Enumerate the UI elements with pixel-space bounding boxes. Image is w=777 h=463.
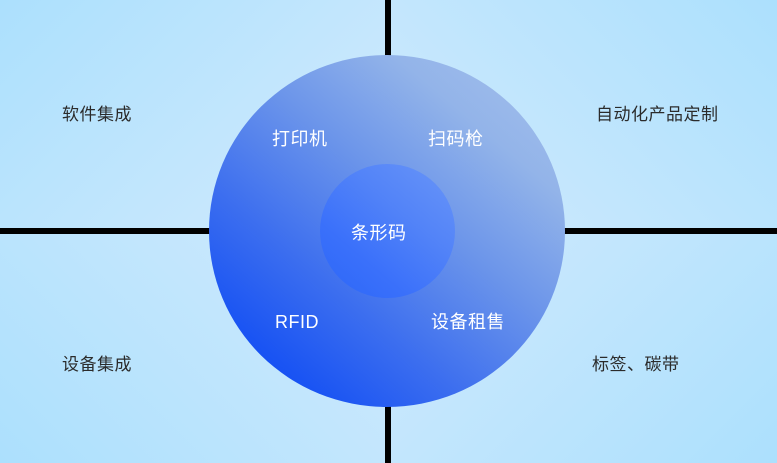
infographic-canvas: 软件集成 自动化产品定制 设备集成 标签、碳带 打印机 扫码枪 RFID 设备租… [0,0,777,463]
ring-label-printer: 打印机 [272,130,328,148]
core-label-barcode: 条形码 [351,224,407,242]
corner-label-label-ribbon: 标签、碳带 [592,356,680,373]
ring-label-rfid: RFID [275,313,319,331]
ring-label-rental: 设备租售 [431,313,505,331]
corner-label-software-integration: 软件集成 [62,106,132,123]
corner-label-automation-custom: 自动化产品定制 [596,106,719,123]
ring-label-scanner: 扫码枪 [428,130,484,148]
corner-label-equipment-integration: 设备集成 [62,356,132,373]
